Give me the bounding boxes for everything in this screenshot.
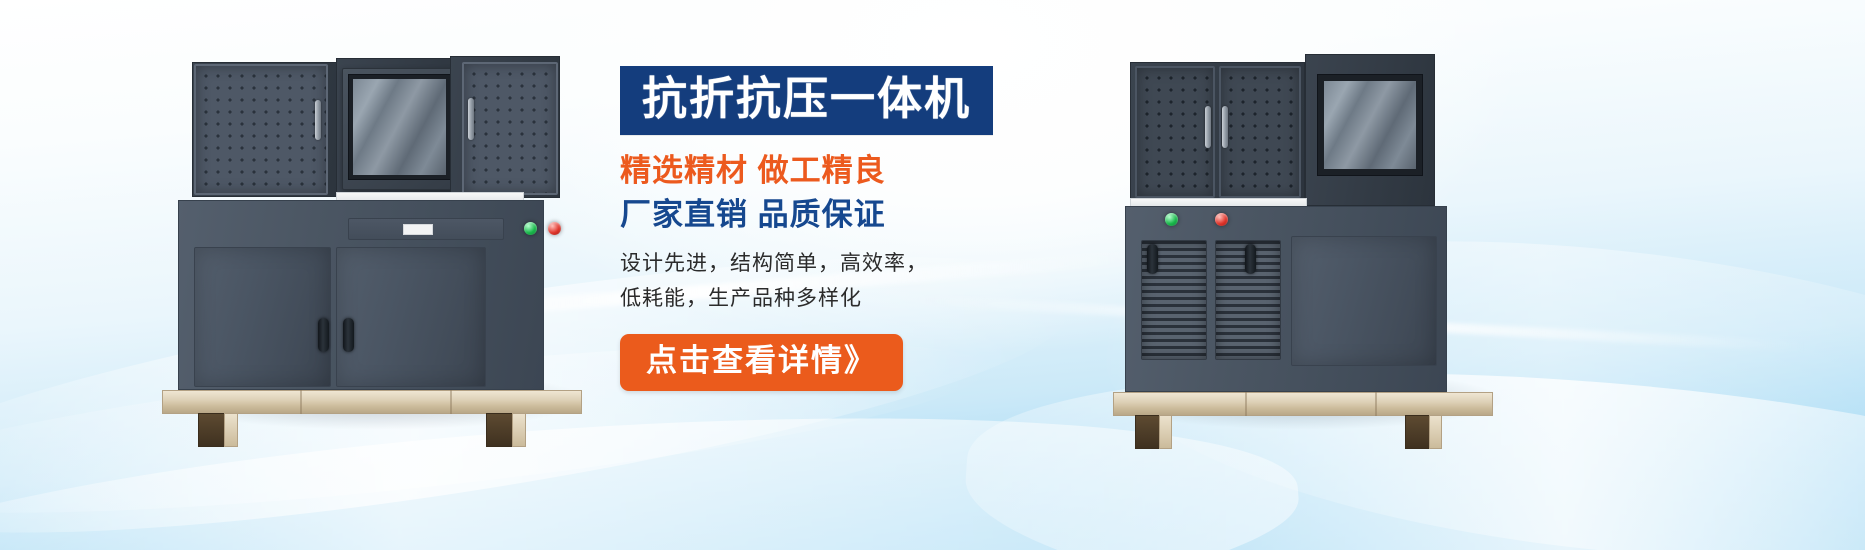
power-indicator-red [548,222,561,235]
pallet-foot-right [1405,415,1431,449]
right-upper-cabinet-handle [468,98,474,140]
view-details-button-label: 点击查看详情》 [646,343,877,378]
lower-door-right-handle [343,318,354,352]
view-details-button[interactable]: 点击查看详情》 [620,334,903,391]
upper-perforated-door-right [1219,66,1301,198]
wooden-pallet [1113,392,1493,416]
pallet-foot-left [1135,415,1161,449]
product-image-right-machine [1105,40,1505,430]
description-line-2: 低耗能，生产品种多样化 [620,281,1090,316]
headline-title-bar: 抗折抗压一体机 [620,66,993,135]
left-upper-cabinet-handle [315,100,321,140]
upper-perforated-door-left [1135,66,1215,198]
power-indicator-red [1215,213,1228,226]
product-image-left-machine [150,40,600,430]
left-upper-perforated-panel [194,64,328,195]
power-indicator-green [524,222,537,235]
pallet-foot-right-front [512,413,526,447]
right-upper-perforated-panel [462,62,558,195]
pallet-foot-left [198,413,226,447]
pallet-seam-2 [1375,392,1377,416]
monitor-screen [1324,81,1416,169]
vent-door-right-handle [1245,244,1256,274]
vent-door-left-handle [1147,244,1158,274]
wooden-pallet [162,390,582,414]
upper-door-right-handle [1222,106,1228,148]
drawer-label-tag [403,224,433,235]
upper-door-left-handle [1205,106,1211,148]
pallet-foot-left-front [224,413,238,447]
pallet-foot-right [486,413,514,447]
promotional-banner: 抗折抗压一体机 精选精材 做工精良 厂家直销 品质保证 设计先进，结构简单，高效… [0,0,1865,550]
monitor-screen [353,79,446,175]
pallet-seam-2 [450,390,452,414]
side-panel [1291,236,1437,366]
banner-copy-block: 抗折抗压一体机 精选精材 做工精良 厂家直销 品质保证 设计先进，结构简单，高效… [620,66,1090,391]
lower-door-left-handle [318,318,329,352]
description-block: 设计先进，结构简单，高效率， 低耗能，生产品种多样化 [620,246,1090,316]
pallet-foot-right-front [1429,415,1442,449]
tagline-blue: 厂家直销 品质保证 [620,196,1090,234]
lower-door-left [194,247,331,387]
pallet-seam-1 [300,390,302,414]
description-line-1: 设计先进，结构简单，高效率， [620,246,1090,281]
power-indicator-green [1165,213,1178,226]
page-title: 抗折抗压一体机 [642,74,971,124]
tagline-orange: 精选精材 做工精良 [620,152,1090,190]
pallet-seam-1 [1245,392,1247,416]
pallet-foot-left-front [1159,415,1172,449]
lower-door-right [336,247,486,387]
